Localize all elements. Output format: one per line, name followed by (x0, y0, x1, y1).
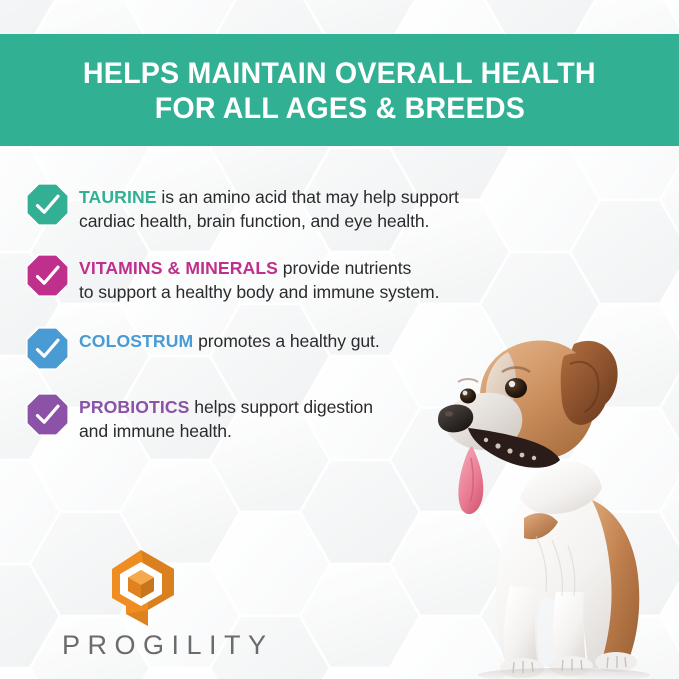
infographic-canvas: HELPS MAINTAIN OVERALL HEALTH FOR ALL AG… (0, 0, 679, 679)
headline-line-2: FOR ALL AGES & BREEDS (154, 91, 524, 126)
headline-line-1: HELPS MAINTAIN OVERALL HEALTH (83, 56, 596, 91)
jack-russell-terrier-dog-photo (424, 300, 679, 679)
benefit-text-line-1: promotes a healthy gut. (193, 331, 379, 351)
benefit-text-line-2: and immune health. (79, 421, 232, 441)
check-badge-octagon-icon (26, 254, 69, 297)
list-item-text: VITAMINS & MINERALS provide nutrients to… (79, 253, 439, 304)
progility-logo: PROGILITY (62, 548, 292, 666)
benefit-text-line-1: is an amino acid that may help support (157, 187, 459, 207)
list-item-text: TAURINE is an amino acid that may help s… (79, 182, 459, 233)
check-badge-octagon-icon (26, 327, 69, 370)
list-item: VITAMINS & MINERALS provide nutrients to… (26, 253, 586, 304)
check-badge-octagon-icon (26, 393, 69, 436)
benefit-keyword: COLOSTRUM (79, 331, 193, 351)
benefit-keyword: PROBIOTICS (79, 397, 189, 417)
progility-wordmark: PROGILITY (62, 630, 292, 661)
benefit-text-line-2: cardiac health, brain function, and eye … (79, 211, 429, 231)
benefit-text-line-1: provide nutrients (278, 258, 411, 278)
benefit-keyword: TAURINE (79, 187, 157, 207)
benefit-keyword: VITAMINS & MINERALS (79, 258, 278, 278)
list-item-text: COLOSTRUM promotes a healthy gut. (79, 326, 380, 353)
list-item: TAURINE is an amino acid that may help s… (26, 182, 586, 233)
benefit-text-line-1: helps support digestion (189, 397, 372, 417)
check-badge-octagon-icon (26, 183, 69, 226)
benefit-text-line-2: to support a healthy body and immune sys… (79, 282, 439, 302)
list-item-text: PROBIOTICS helps support digestion and i… (79, 392, 373, 443)
headline-banner: HELPS MAINTAIN OVERALL HEALTH FOR ALL AG… (0, 34, 679, 146)
progility-hex-p-icon (104, 548, 178, 628)
